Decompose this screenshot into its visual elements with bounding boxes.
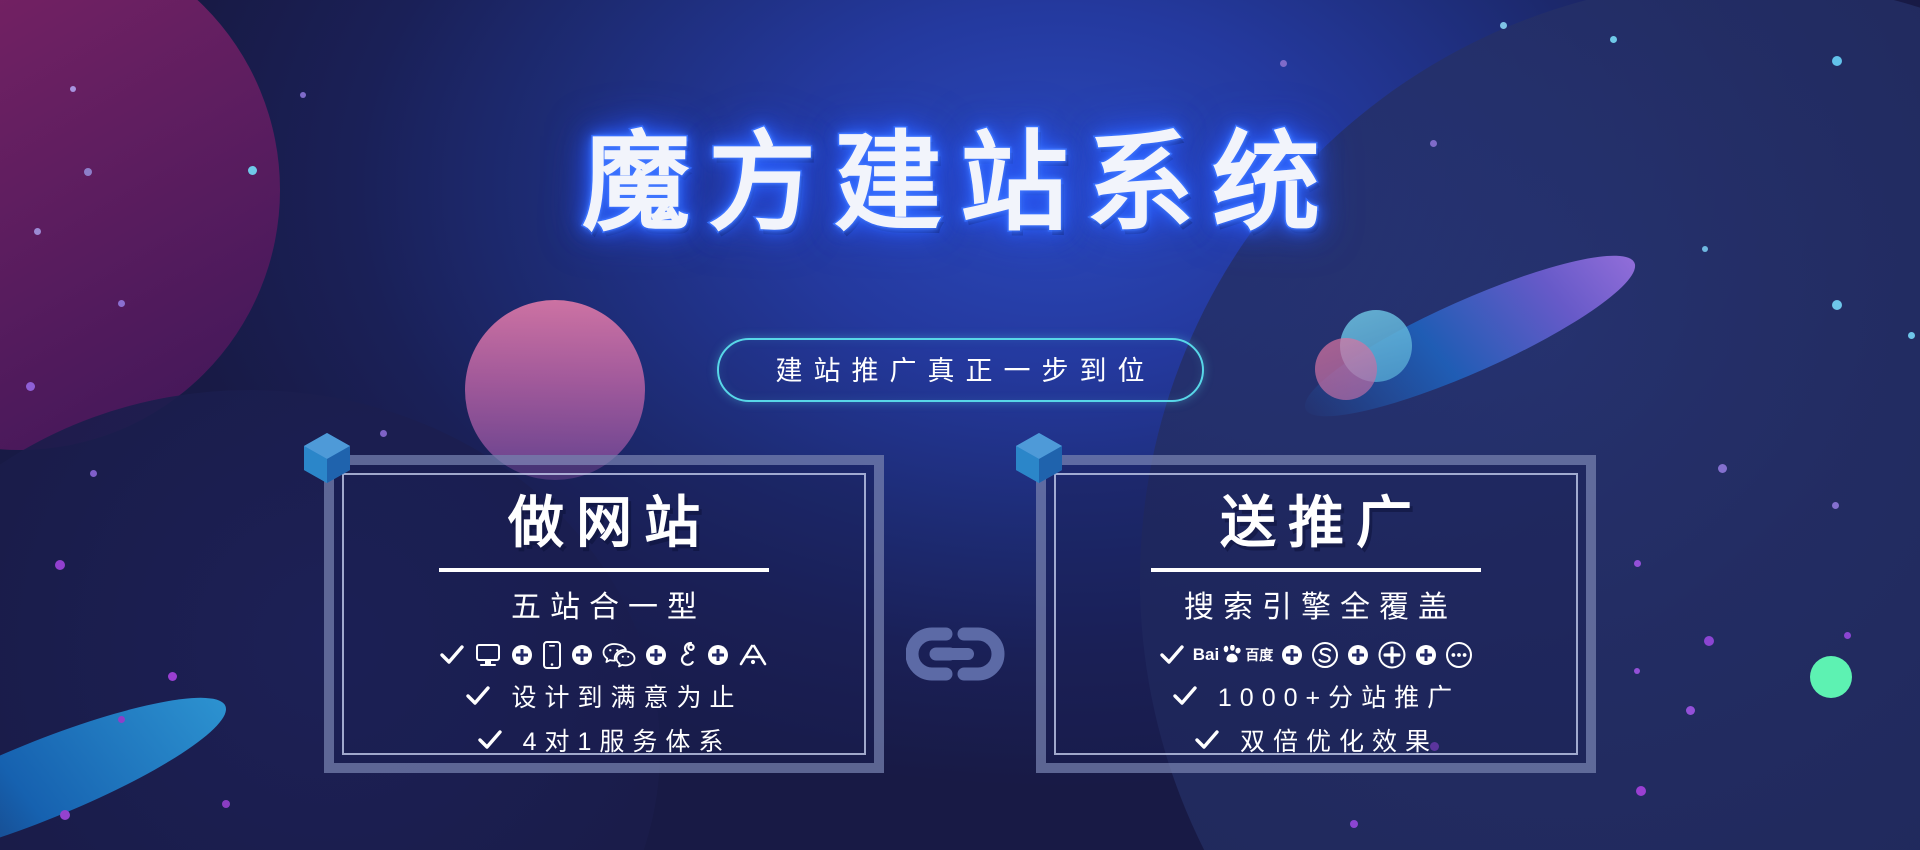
360-search-icon [1377,640,1407,670]
feature-label: 设计到满意为止 [503,678,742,714]
heading-underline [439,568,769,572]
feature-item: 4对1服务体系 [358,722,850,758]
feature-item: 1000+分站推广 [1070,678,1562,714]
feature-label: 双倍优化效果 [1232,722,1438,758]
comet-streak-icon-right [1291,230,1649,442]
dot-icon [1610,36,1617,43]
dot-icon [380,430,387,437]
card-subheading: 五站合一型 [358,582,850,626]
dot-icon [70,86,76,92]
plus-icon [511,644,533,666]
card-inner: 做网站 五站合一型 [342,473,866,755]
plus-icon [1281,644,1303,666]
desktop-monitor-icon [473,640,503,670]
baidu-logo-icon: Bai 百度 [1193,645,1273,665]
sogou-icon [1311,641,1339,669]
mobile-phone-icon [541,640,563,670]
plus-icon [1415,644,1437,666]
dot-icon [60,810,70,820]
check-icon [465,683,491,709]
dot-icon [1832,56,1842,66]
heading-underline [1151,568,1481,572]
dot-icon [118,300,125,307]
plus-icon [571,644,593,666]
card-free-promotion[interactable]: 送推广 搜索引擎全覆盖 Bai 百 [1036,455,1596,773]
dot-icon [1280,60,1287,67]
feature-label: 1000+分站推广 [1210,678,1460,714]
plus-icon [1347,644,1369,666]
dot-icon [222,800,230,808]
dot-icon [1636,786,1646,796]
card-subheading: 搜索引擎全覆盖 [1070,582,1562,626]
title-container: 魔方建站系统 [0,96,1920,252]
platform-icon-row [358,640,850,670]
qq-icon [675,640,699,670]
more-ellipsis-icon [1445,641,1473,669]
feature-item: 双倍优化效果 [1070,722,1562,758]
cube-icon [1010,429,1068,487]
page-title: 魔方建站系统 [582,96,1338,252]
card-inner: 送推广 搜索引擎全覆盖 Bai 百 [1054,473,1578,755]
baidu-logo-text: Bai [1193,645,1219,665]
subtitle-container: 建站推广真正一步到位 [0,338,1920,402]
check-icon [1194,727,1220,753]
cube-icon [298,429,356,487]
plus-icon [707,644,729,666]
baidu-logo-text-cn: 百度 [1245,645,1273,665]
subtitle-badge: 建站推广真正一步到位 [717,338,1204,402]
card-build-website[interactable]: 做网站 五站合一型 [324,455,884,773]
app-store-icon [737,641,769,669]
check-icon [439,642,465,668]
plus-icon [645,644,667,666]
wechat-icon [601,641,637,669]
card-heading: 做网站 [488,495,720,564]
check-icon [1172,683,1198,709]
dot-icon [1350,820,1358,828]
chain-link-icon [906,620,1014,693]
dot-icon [1832,300,1842,310]
promo-banner: 魔方建站系统 建站推广真正一步到位 做网站 五站合一型 [0,0,1920,850]
feature-label: 4对1服务体系 [515,722,732,758]
search-engine-icon-row: Bai 百度 [1070,640,1562,670]
check-icon [477,727,503,753]
feature-item: 设计到满意为止 [358,678,850,714]
card-heading: 送推广 [1200,495,1432,564]
check-icon [1159,642,1185,668]
cards-container: 做网站 五站合一型 [0,455,1920,773]
dot-icon [1500,22,1507,29]
